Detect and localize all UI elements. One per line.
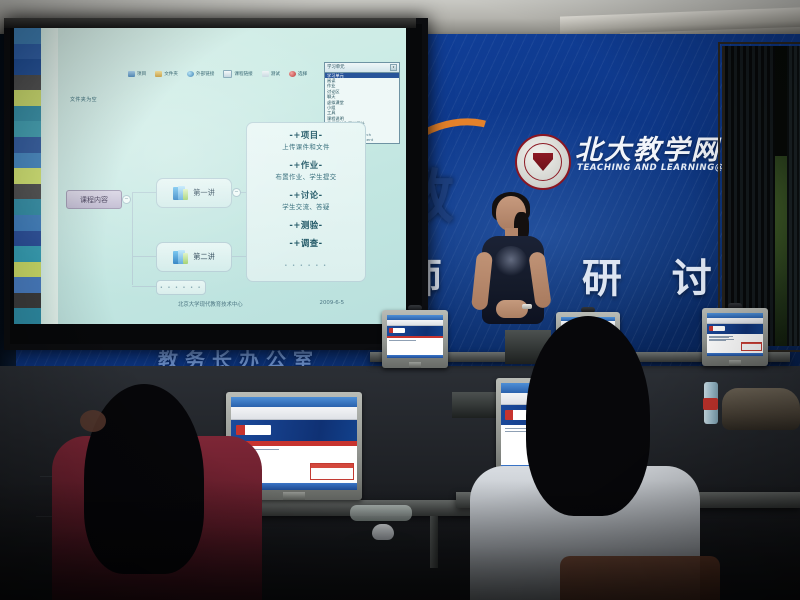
monitor-screen[interactable]: [387, 315, 443, 358]
presenter-top-embroidery: [494, 246, 528, 280]
popup-dialog[interactable]: [310, 463, 355, 480]
taskbar[interactable]: [707, 353, 763, 356]
monitor-stand: [283, 492, 305, 500]
monitor-stand: [409, 362, 421, 368]
browser-window[interactable]: [707, 313, 763, 356]
window: [722, 46, 800, 346]
branch-item-1[interactable]: -+作业- 布置作业、学生提交: [247, 159, 365, 181]
mindmap: 课程内容 − 第一讲 第二讲 • • • • • • −: [60, 118, 406, 298]
test-icon: [262, 71, 269, 77]
mindmap-lecture-1[interactable]: 第一讲: [156, 178, 232, 208]
popup-titlebar: [742, 343, 761, 345]
toolbar-item-0[interactable]: 项目: [128, 71, 146, 77]
toolbar-item-label: 外部链接: [196, 71, 214, 77]
presenter-hands: [496, 300, 528, 318]
branch-item-4[interactable]: -+调查-: [247, 237, 365, 249]
page-body: [707, 334, 763, 353]
page-icon: [223, 70, 232, 78]
taskbar[interactable]: [387, 355, 443, 358]
books-icon: [173, 186, 189, 200]
attendee-ear-region: [80, 410, 106, 432]
page-body: [387, 338, 443, 354]
mindmap-line-lec1: [132, 192, 156, 193]
toolbar-item-label: 选择: [298, 71, 307, 77]
branch-item-3[interactable]: -+测验-: [247, 219, 365, 231]
toolbar-item-1[interactable]: 文件夹: [155, 71, 178, 77]
lms-toolbar[interactable]: 项目文件夹外部链接课程链接测试选择: [128, 70, 307, 78]
lecture-1-label: 第一讲: [193, 188, 215, 198]
presenter-wristwatch: [522, 304, 532, 309]
chevron-down-icon[interactable]: ▾: [390, 64, 397, 71]
mindmap-more-node[interactable]: • • • • • •: [156, 280, 206, 295]
folder-icon: [155, 71, 162, 77]
mindmap-branch-group: -+项目- 上传课件和文件 -+作业- 布置作业、学生提交 -+讨论- 学生交流…: [246, 122, 366, 282]
monitor-screen[interactable]: [707, 313, 763, 356]
slide-footer-date: 2009-6-5: [320, 300, 344, 308]
projection-screen-top-bar: [4, 18, 416, 28]
site-logo: [389, 328, 405, 333]
bottle-label: [703, 398, 718, 410]
attendee-hair: [526, 316, 650, 516]
slide-footer-org: 北京大学现代教育技术中心: [178, 300, 243, 308]
browser-toolbar[interactable]: [707, 318, 763, 325]
bag-on-desk: [722, 388, 800, 430]
toolbar-item-label: 测试: [271, 71, 280, 77]
desk-leg: [430, 516, 438, 568]
popup-titlebar: [311, 464, 354, 467]
toolbar-item-4[interactable]: 测试: [262, 71, 280, 77]
chair-back: [560, 556, 720, 600]
banner-logo-wordmark: 北大教学网: [575, 128, 720, 167]
site-header: [707, 324, 763, 333]
browser-window[interactable]: [387, 315, 443, 358]
monitor-back-right[interactable]: [702, 308, 768, 366]
pku-seal-logo: [515, 134, 571, 190]
toolbar-item-2[interactable]: 外部链接: [187, 71, 214, 77]
site-logo: [709, 326, 725, 331]
popup-dialog[interactable]: [741, 342, 762, 352]
branch-more-dots: • • • • • •: [247, 263, 365, 269]
mindmap-lecture-2[interactable]: 第二讲: [156, 242, 232, 272]
item-icon: [128, 71, 135, 77]
branch-item-2[interactable]: -+讨论- 学生交流、答疑: [247, 189, 365, 211]
lms-course-content-page: 项目文件夹外部链接课程链接测试选择 文件夹为空 学习单元 ▾ 学习单元阅读作业讨…: [60, 40, 406, 324]
branch-subtitle-0: 上传课件和文件: [247, 142, 365, 151]
branch-subtitle-1: 布置作业、学生提交: [247, 172, 365, 181]
branch-title-0: -+项目-: [247, 129, 365, 141]
desk-clutter: [350, 505, 412, 521]
classroom-photo-scene: 教 北大教学网 TEACHING AND LEARNING@PKU 师 研 讨 …: [0, 0, 800, 600]
branch-subtitle-2: 学生交流、答疑: [247, 202, 365, 211]
dropdown-selected-value: 学习单元: [327, 64, 345, 70]
projected-slide: 项目文件夹外部链接课程链接测试选择 文件夹为空 学习单元 ▾ 学习单元阅读作业讨…: [14, 28, 406, 324]
mindmap-connector-root: [132, 192, 157, 285]
mindmap-line-lec2: [132, 256, 156, 257]
empty-folder-message: 文件夹为空: [70, 96, 97, 103]
projector-light-band: [41, 28, 58, 324]
window-curtain-right: [787, 46, 800, 346]
lecture-1-collapse-icon[interactable]: −: [232, 188, 241, 197]
branch-title-3: -+测验-: [247, 219, 365, 231]
slide-footer: 北京大学现代教育技术中心 2009-6-5: [106, 300, 400, 308]
books-icon: [173, 250, 189, 264]
monitor-back-left[interactable]: [382, 310, 448, 368]
attendee-foreground-left: [52, 384, 262, 600]
mindmap-line-more: [132, 286, 156, 287]
site-header: [387, 326, 443, 335]
window-curtain-left: [725, 46, 775, 346]
select-icon: [289, 71, 296, 77]
mouse[interactable]: [372, 524, 394, 540]
lecture-2-label: 第二讲: [193, 252, 215, 262]
mindmap-root-node[interactable]: 课程内容: [66, 190, 122, 209]
globe-icon: [187, 71, 194, 77]
dropdown-header[interactable]: 学习单元 ▾: [324, 62, 400, 73]
toolbar-item-3[interactable]: 课程链接: [223, 70, 252, 78]
branch-item-0[interactable]: -+项目- 上传课件和文件: [247, 129, 365, 151]
browser-toolbar[interactable]: [387, 320, 443, 327]
toolbar-item-label: 文件夹: [164, 71, 178, 77]
branch-title-2: -+讨论-: [247, 189, 365, 201]
toolbar-item-label: 课程链接: [234, 71, 252, 77]
toolbar-item-label: 项目: [137, 71, 146, 77]
toolbar-item-5[interactable]: 选择: [289, 71, 307, 77]
branch-title-1: -+作业-: [247, 159, 365, 171]
branch-title-4: -+调查-: [247, 237, 365, 249]
monitor-stand: [729, 360, 741, 366]
root-collapse-icon[interactable]: −: [122, 195, 131, 204]
mindmap-line-lec2-out: [230, 256, 246, 257]
